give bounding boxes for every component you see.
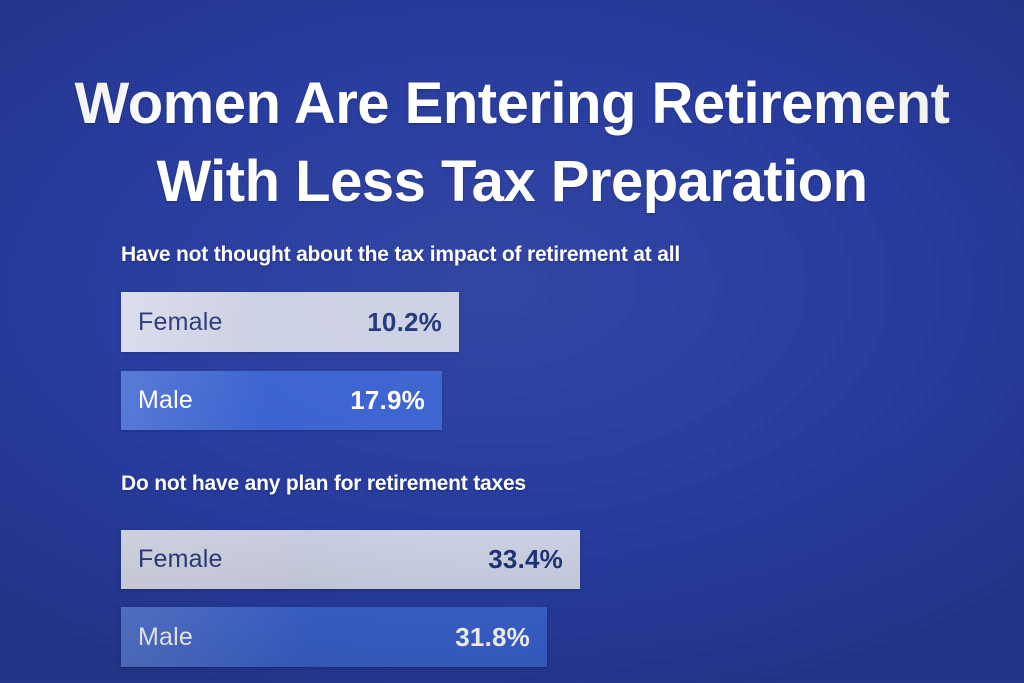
chart-group-heading: Do not have any plan for retirement taxe… [121, 472, 526, 496]
bar-value: 17.9% [350, 385, 425, 416]
bar-male: Male31.8% [121, 607, 547, 667]
chart-group-heading: Have not thought about the tax impact of… [121, 243, 680, 267]
bar-value: 33.4% [488, 544, 563, 575]
bar-label: Male [138, 623, 193, 652]
bar-label: Male [138, 386, 193, 415]
bar-value: 10.2% [367, 307, 442, 338]
infographic-canvas: Women Are Entering Retirement With Less … [0, 0, 1024, 683]
bar-female: Female33.4% [121, 530, 580, 589]
page-title: Women Are Entering Retirement With Less … [0, 65, 1024, 221]
bar-female: Female10.2% [121, 292, 459, 352]
bar-male: Male17.9% [121, 371, 442, 430]
bar-label: Female [138, 308, 223, 337]
bar-value: 31.8% [455, 622, 530, 653]
bar-label: Female [138, 545, 223, 574]
